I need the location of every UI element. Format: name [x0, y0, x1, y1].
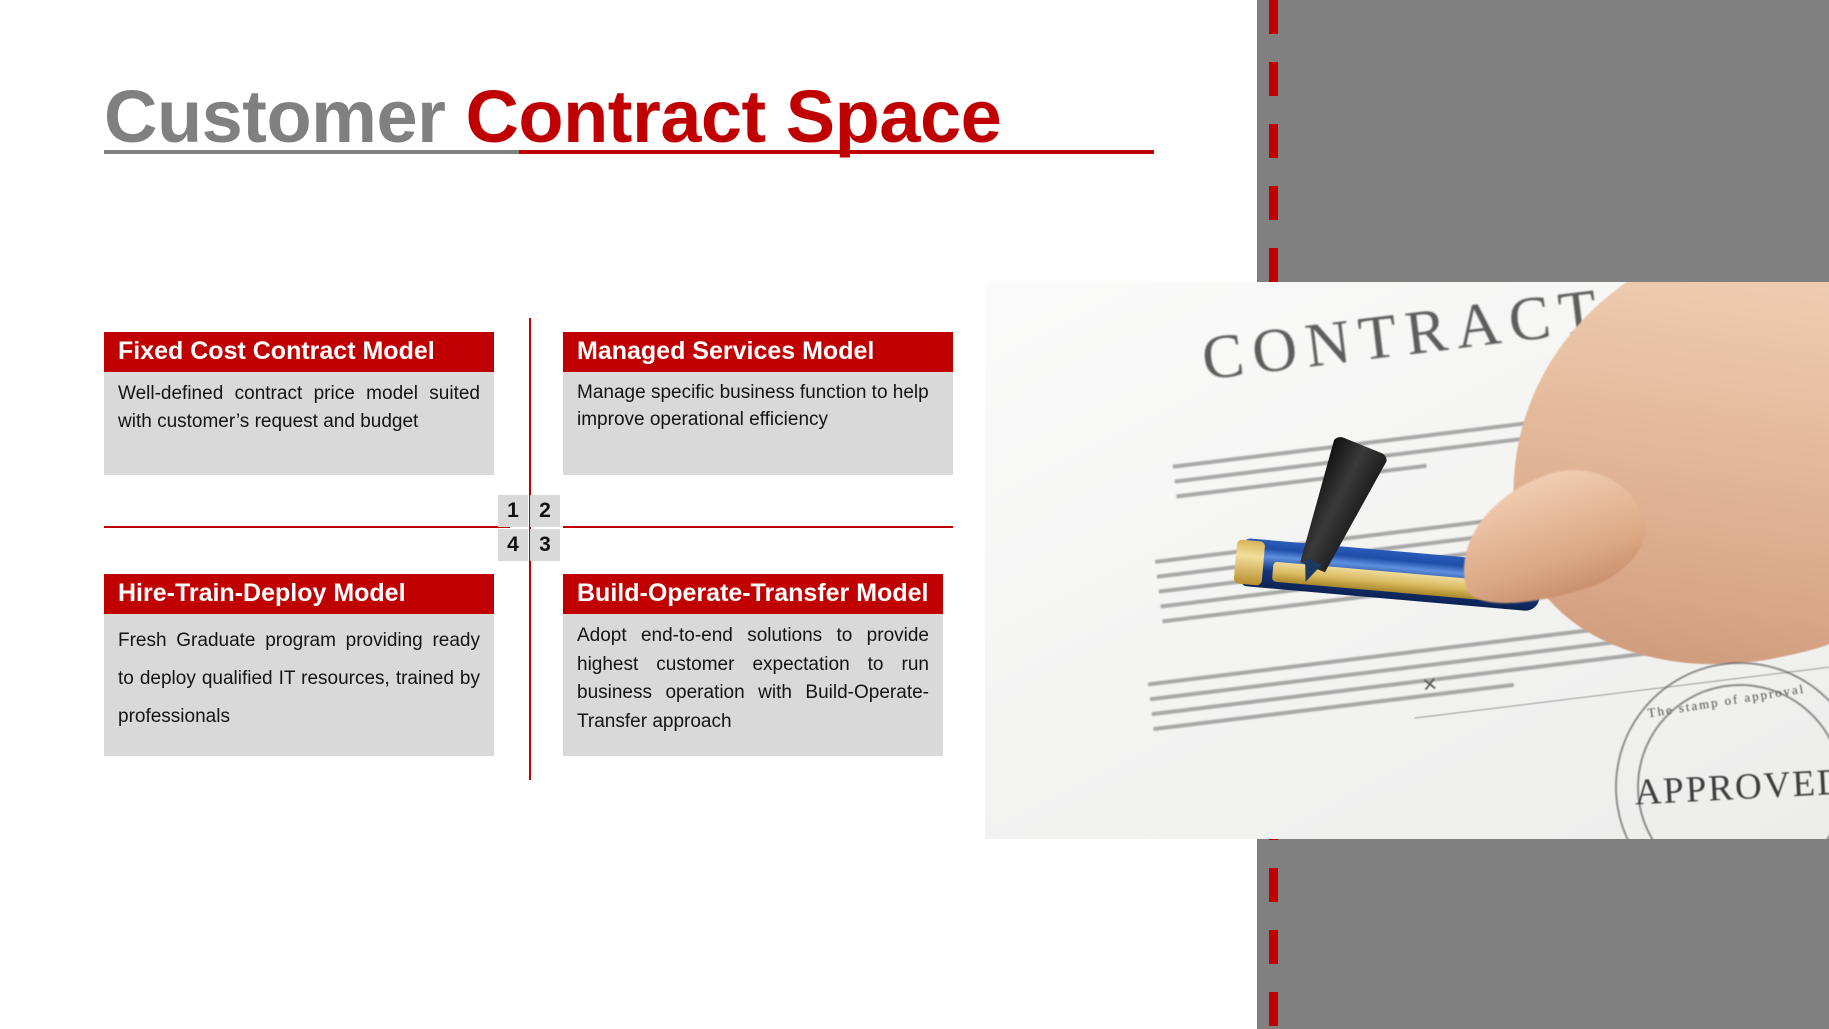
contract-photo: CONTRACT ✕ The stamp of approval APPROVE…: [985, 282, 1829, 839]
card-fixed-cost-contract-model[interactable]: Fixed Cost Contract Model Well-defined c…: [104, 332, 494, 475]
quadrant-number-1: 1: [498, 495, 528, 527]
card-title: Managed Services Model: [563, 332, 953, 372]
quadrant-horizontal-divider-right: [563, 526, 953, 528]
card-description: Well-defined contract price model suited…: [104, 372, 494, 475]
quadrant-horizontal-divider-left: [104, 526, 510, 528]
page-title-gray: Customer: [104, 75, 465, 158]
page-title-red: Contract Space: [465, 75, 1001, 158]
quadrant-number-3: 3: [530, 529, 560, 561]
title-underline-red: [519, 150, 1154, 154]
signature-x-mark: ✕: [1421, 673, 1440, 698]
page-title: Customer Contract Space: [104, 74, 1001, 159]
card-title: Build-Operate-Transfer Model: [563, 574, 943, 614]
card-title: Fixed Cost Contract Model: [104, 332, 494, 372]
card-build-operate-transfer-model[interactable]: Build-Operate-Transfer Model Adopt end-t…: [563, 574, 943, 756]
quadrant-number-grid: 1 2 4 3: [498, 495, 560, 561]
card-description: Fresh Graduate program providing ready t…: [104, 614, 494, 756]
card-title: Hire-Train-Deploy Model: [104, 574, 494, 614]
card-hire-train-deploy-model[interactable]: Hire-Train-Deploy Model Fresh Graduate p…: [104, 574, 494, 756]
quadrant-number-4: 4: [498, 529, 528, 561]
card-description: Manage specific business function to hel…: [563, 372, 953, 475]
title-underline-gray: [104, 150, 519, 154]
card-description: Adopt end-to-end solutions to provide hi…: [563, 614, 943, 756]
quadrant-number-2: 2: [530, 495, 560, 527]
card-managed-services-model[interactable]: Managed Services Model Manage specific b…: [563, 332, 953, 475]
